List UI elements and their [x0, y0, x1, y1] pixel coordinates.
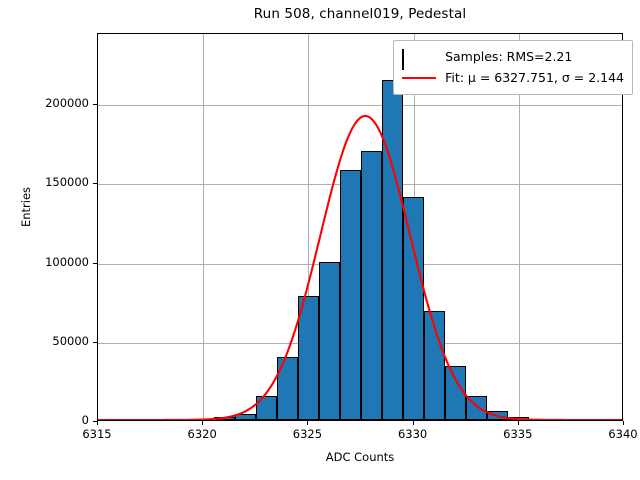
x-tick: [97, 421, 98, 425]
x-tick-label: 6335: [483, 427, 553, 441]
x-tick-label: 6320: [167, 427, 237, 441]
histogram-bar: [298, 296, 319, 420]
x-tick: [518, 421, 519, 425]
histogram-bar: [445, 366, 466, 420]
histogram-figure: Run 508, channel019, Pedestal 6315632063…: [0, 0, 640, 480]
y-tick: [93, 183, 97, 184]
histogram-bar: [214, 417, 235, 420]
histogram-bar: [277, 357, 298, 420]
y-tick-label: 50000: [19, 334, 89, 348]
histogram-bar: [340, 170, 361, 420]
histogram-bar: [508, 417, 529, 420]
histogram-bar: [235, 414, 256, 420]
histogram-bar: [466, 396, 487, 420]
legend-swatch-bar-icon: [402, 50, 436, 64]
x-tick-label: 6330: [378, 427, 448, 441]
x-tick: [202, 421, 203, 425]
legend[interactable]: Samples: RMS=2.21 Fit: μ = 6327.751, σ =…: [393, 40, 633, 95]
legend-item-samples[interactable]: Samples: RMS=2.21: [402, 46, 624, 67]
histogram-bar: [424, 311, 445, 420]
histogram-bar: [382, 80, 403, 420]
legend-label-fit: Fit: μ = 6327.751, σ = 2.144: [445, 70, 624, 85]
x-tick-label: 6340: [588, 427, 640, 441]
y-tick-label: 0: [19, 413, 89, 427]
x-tick: [307, 421, 308, 425]
histogram-bar: [487, 411, 508, 421]
chart-title: Run 508, channel019, Pedestal: [97, 6, 623, 22]
y-tick: [93, 342, 97, 343]
legend-swatch-line-icon: [402, 71, 436, 85]
y-tick: [93, 104, 97, 105]
y-tick: [93, 421, 97, 422]
legend-item-fit[interactable]: Fit: μ = 6327.751, σ = 2.144: [402, 67, 624, 88]
y-axis-label: Entries: [19, 157, 33, 257]
y-tick-label: 200000: [19, 96, 89, 110]
legend-label-samples: Samples: RMS=2.21: [445, 49, 572, 64]
x-tick: [413, 421, 414, 425]
histogram-bar: [319, 262, 340, 420]
histogram-bar: [403, 197, 424, 420]
x-tick-label: 6315: [62, 427, 132, 441]
x-tick: [623, 421, 624, 425]
y-tick: [93, 263, 97, 264]
histogram-bar: [361, 151, 382, 420]
histogram-bar: [256, 396, 277, 420]
x-tick-label: 6325: [272, 427, 342, 441]
x-axis-label: ADC Counts: [97, 450, 623, 464]
